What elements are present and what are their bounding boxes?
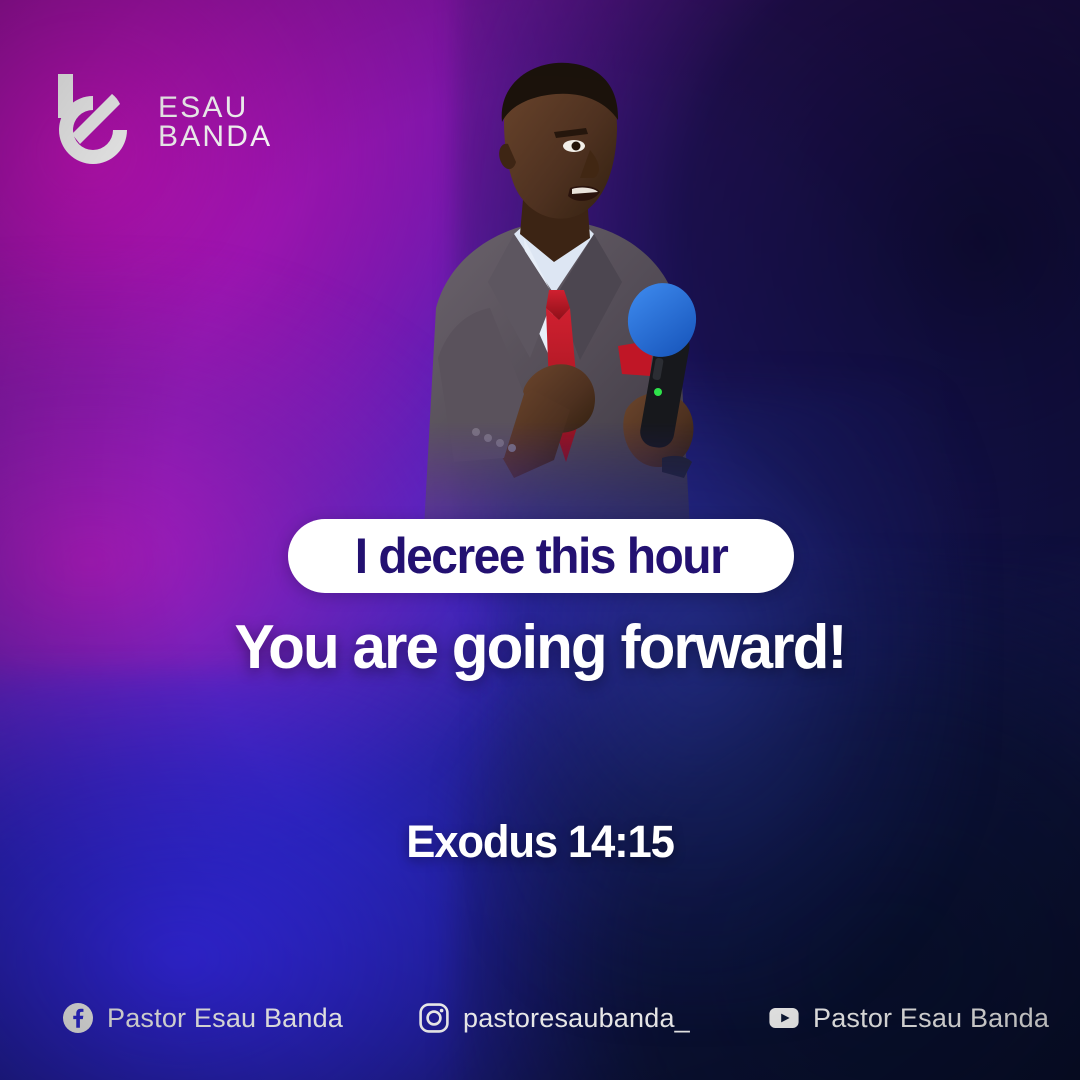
poster-canvas: ESAU BANDA xyxy=(0,0,1080,1080)
background-vignette xyxy=(0,0,1080,1080)
